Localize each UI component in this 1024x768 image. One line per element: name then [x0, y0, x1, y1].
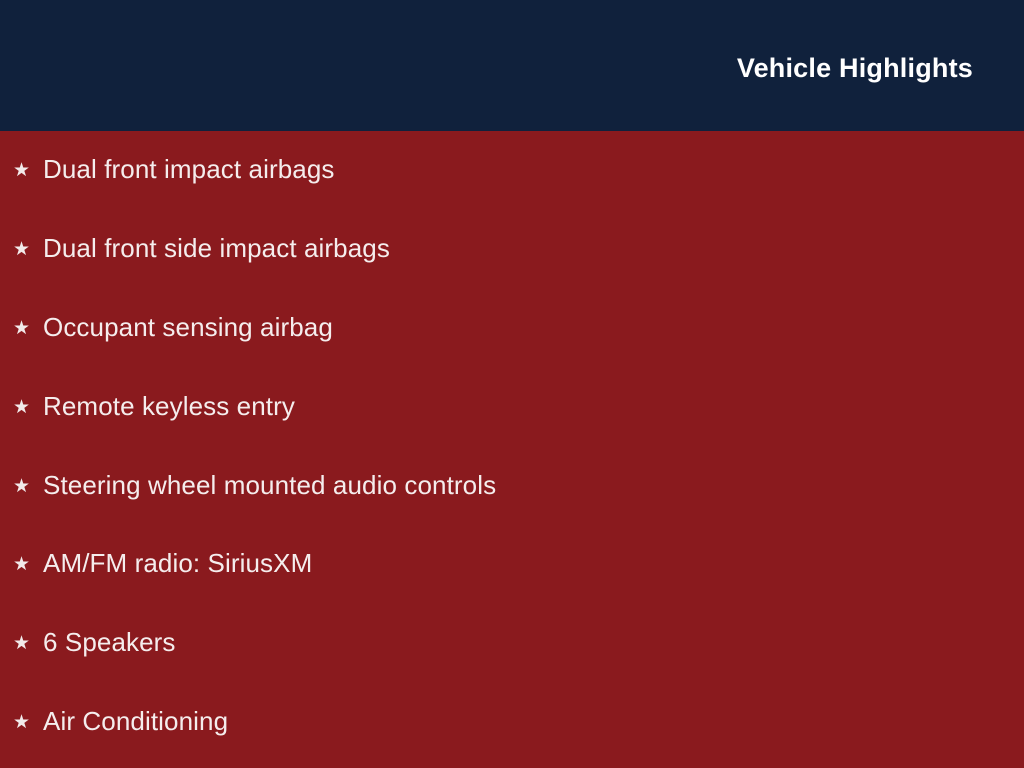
- list-item: ★ Dual front side impact airbags: [0, 210, 1024, 289]
- star-bullet-icon: ★: [13, 554, 43, 574]
- list-item: ★ 6 Speakers: [0, 604, 1024, 683]
- list-item: ★ Air Conditioning: [0, 683, 1024, 762]
- vehicle-highlights-slide: Vehicle Highlights ★ Dual front impact a…: [0, 0, 1024, 768]
- list-item: ★ Remote keyless entry: [0, 367, 1024, 446]
- page-title: Vehicle Highlights: [737, 48, 973, 84]
- slide-body: ★ Dual front impact airbags ★ Dual front…: [0, 131, 1024, 768]
- list-item-label: Steering wheel mounted audio controls: [43, 471, 496, 501]
- star-bullet-icon: ★: [13, 476, 43, 496]
- star-bullet-icon: ★: [13, 633, 43, 653]
- slide-header: Vehicle Highlights: [0, 0, 1024, 131]
- list-item-label: Dual front side impact airbags: [43, 234, 390, 264]
- star-bullet-icon: ★: [13, 712, 43, 732]
- list-item-label: Air Conditioning: [43, 707, 228, 737]
- list-item: ★ Steering wheel mounted audio controls: [0, 446, 1024, 525]
- list-item-label: Occupant sensing airbag: [43, 313, 333, 343]
- list-item-label: Dual front impact airbags: [43, 155, 335, 185]
- list-item: ★ Occupant sensing airbag: [0, 289, 1024, 368]
- vehicle-highlights-list: ★ Dual front impact airbags ★ Dual front…: [0, 131, 1024, 761]
- star-bullet-icon: ★: [13, 239, 43, 259]
- star-bullet-icon: ★: [13, 160, 43, 180]
- list-item-label: 6 Speakers: [43, 628, 176, 658]
- list-item-label: AM/FM radio: SiriusXM: [43, 549, 312, 579]
- star-bullet-icon: ★: [13, 397, 43, 417]
- star-bullet-icon: ★: [13, 318, 43, 338]
- list-item-label: Remote keyless entry: [43, 392, 295, 422]
- list-item: ★ Dual front impact airbags: [0, 131, 1024, 210]
- list-item: ★ AM/FM radio: SiriusXM: [0, 525, 1024, 604]
